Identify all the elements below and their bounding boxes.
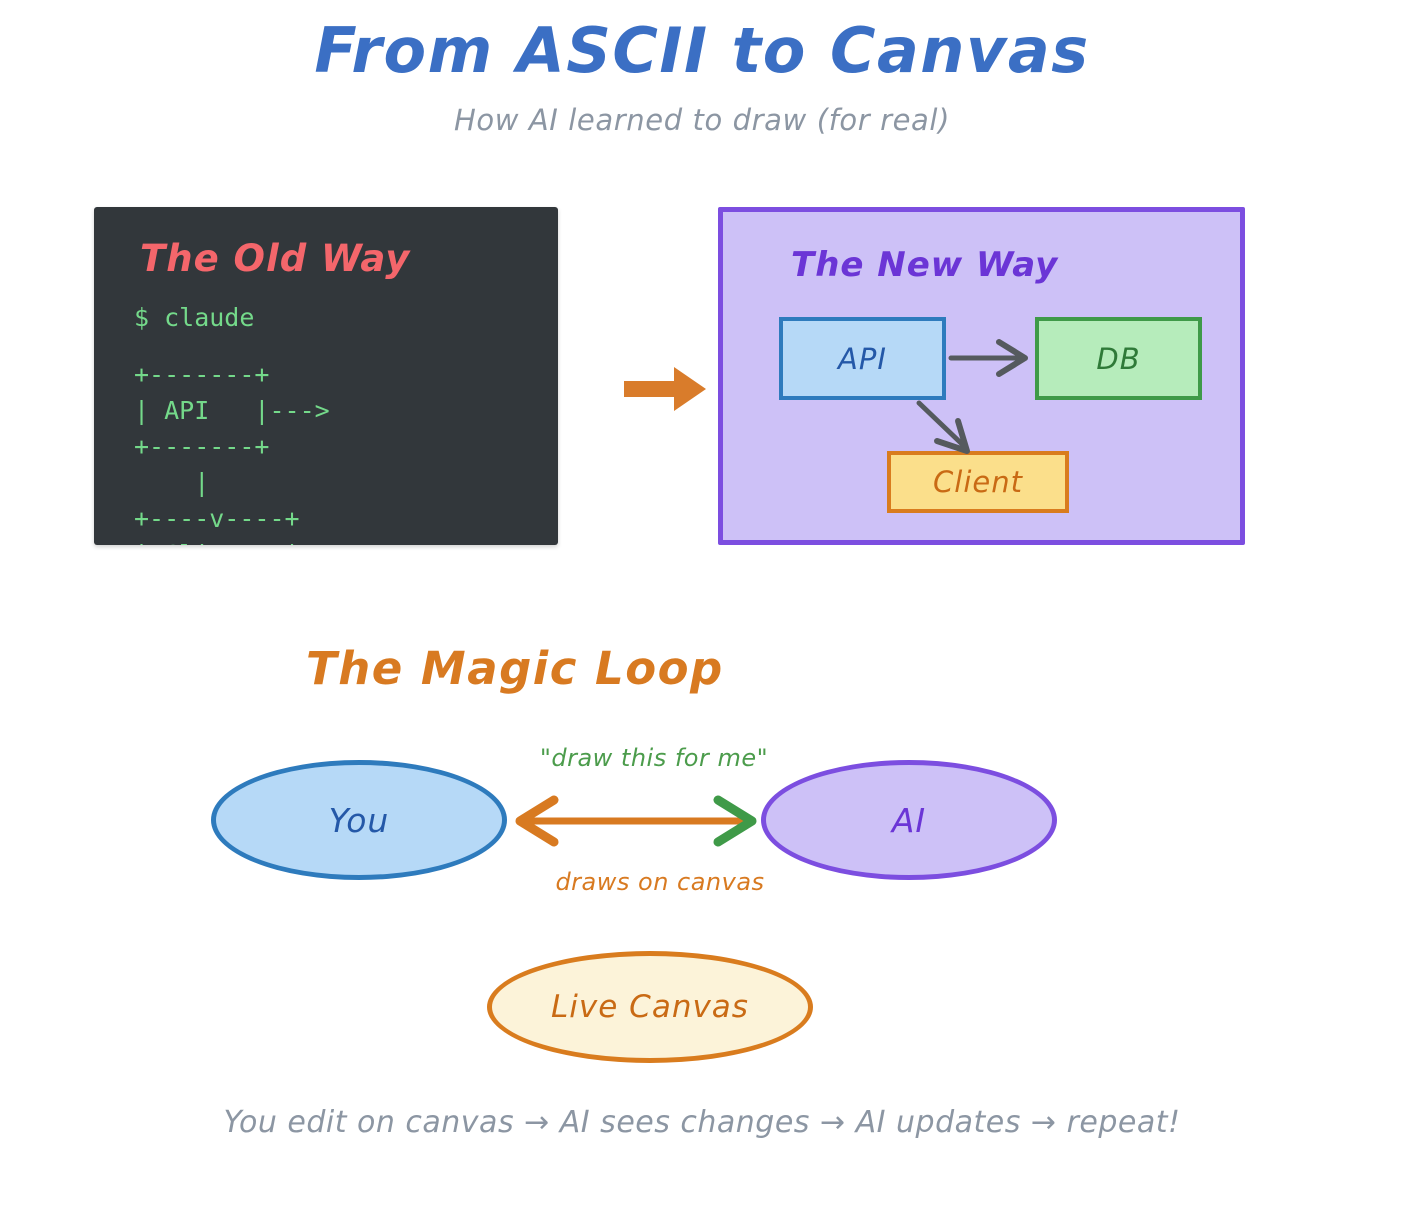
right-arrow-icon [624, 364, 708, 414]
new-way-heading: The New Way [791, 245, 1058, 285]
new-way-box-db: DB [1035, 317, 1202, 400]
new-way-panel: The New Way API DB Client [718, 207, 1245, 545]
old-way-terminal-panel: The Old Way $ claude +-------+ | API |--… [94, 207, 558, 545]
magic-loop-heading: The Magic Loop [306, 642, 724, 695]
loop-node-ai: AI [761, 760, 1057, 880]
new-way-box-api: API [779, 317, 946, 400]
arrow-api-to-client-icon [913, 397, 983, 459]
old-way-heading: The Old Way [140, 237, 410, 280]
terminal-prompt-line: $ claude [134, 303, 254, 332]
page-title: From ASCII to Canvas [0, 14, 1404, 87]
page-subtitle: How AI learned to draw (for real) [0, 103, 1404, 137]
loop-node-live-canvas: Live Canvas [487, 951, 813, 1063]
ascii-art-diagram: +-------+ | API |---> +-------+ | +----v… [134, 357, 330, 545]
loop-node-you: You [211, 760, 507, 880]
loop-arrow-label-top: "draw this for me" [0, 744, 1356, 772]
new-way-box-client: Client [887, 451, 1069, 513]
footer-caption: You edit on canvas → AI sees changes → A… [0, 1105, 1404, 1140]
bidirectional-arrow-icon [512, 792, 760, 850]
loop-arrow-label-bottom: draws on canvas [0, 868, 1362, 896]
arrow-api-to-db-icon [947, 332, 1039, 384]
